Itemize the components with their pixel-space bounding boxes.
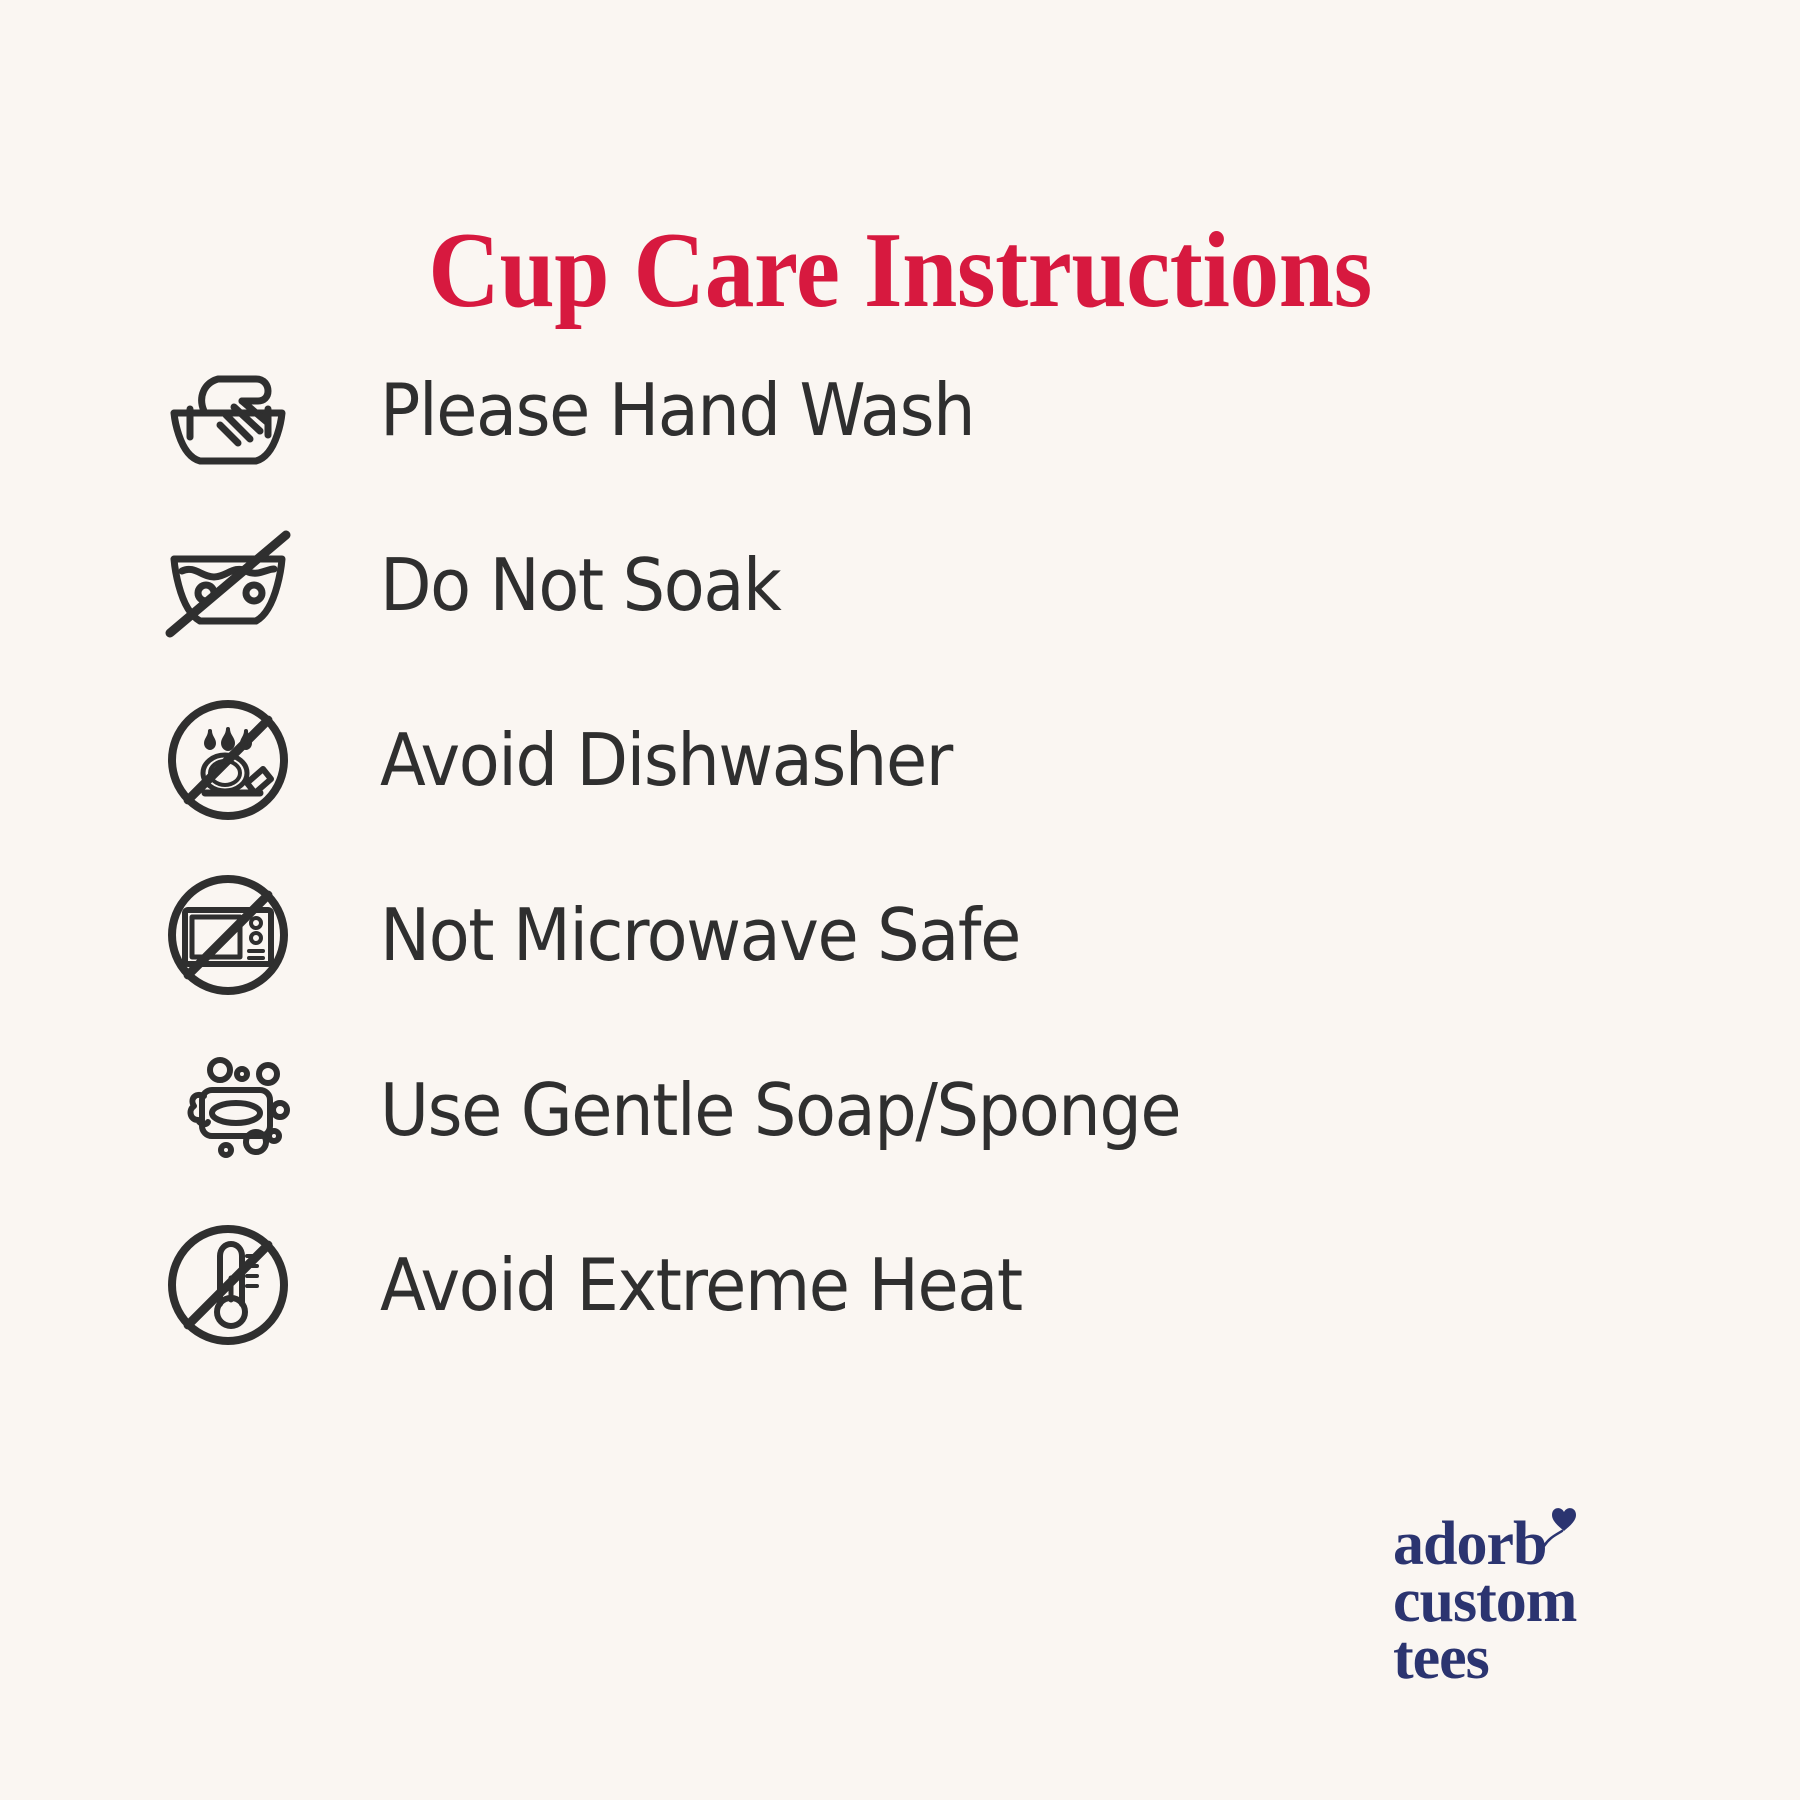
page-title: Cup Care Instructions [72,214,1728,327]
instruction-row-do-not-soak: Do Not Soak [0,497,1800,672]
instructions-list: Please Hand Wash Do Not Soak [0,322,1800,1372]
heart-balloon-icon [1540,1504,1588,1548]
do-not-soak-icon [160,521,295,649]
soap-bubbles-icon [160,1046,295,1174]
logo-line-custom: custom [1393,1573,1693,1630]
instruction-label: Do Not Soak [380,549,780,621]
no-dishwasher-icon [160,696,295,824]
brand-logo: adorb custom tees [1393,1516,1693,1687]
logo-line-adorb: adorb [1393,1516,1546,1573]
instruction-row-gentle-soap: Use Gentle Soap/Sponge [0,1022,1800,1197]
instruction-label: Please Hand Wash [380,374,974,446]
hand-wash-icon [160,346,295,474]
instruction-label: Not Microwave Safe [380,899,1020,971]
care-instructions-card: Cup Care Instructions Please Hand Wash [0,0,1800,1800]
instruction-label: Avoid Extreme Heat [380,1249,1022,1321]
no-microwave-icon [160,871,295,999]
no-heat-thermometer-icon [160,1221,295,1349]
instruction-label: Avoid Dishwasher [380,724,952,796]
logo-text-adorb: adorb [1393,1510,1546,1578]
logo-line-tees: tees [1393,1630,1693,1687]
instruction-row-hand-wash: Please Hand Wash [0,322,1800,497]
instruction-label: Use Gentle Soap/Sponge [380,1074,1180,1146]
instruction-row-avoid-dishwasher: Avoid Dishwasher [0,672,1800,847]
instruction-row-not-microwave-safe: Not Microwave Safe [0,847,1800,1022]
instruction-row-avoid-extreme-heat: Avoid Extreme Heat [0,1197,1800,1372]
